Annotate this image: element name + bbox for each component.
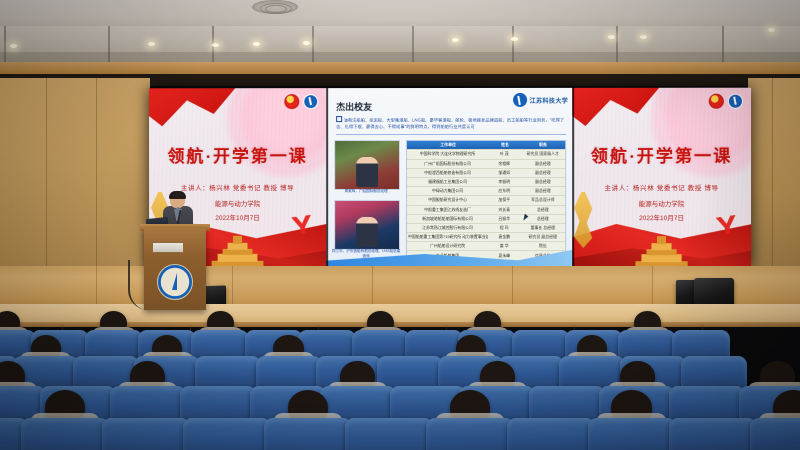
ceiling-spotlight	[303, 41, 310, 45]
table-cell: 副总经理	[520, 178, 565, 186]
table-header-cell: 姓名	[489, 141, 521, 149]
auditorium-seat	[345, 418, 433, 450]
table-row: 中船重工集团江苏线友造厂刘长青总经理	[407, 204, 565, 213]
table-cell: 研究员 国家级人才	[520, 150, 565, 158]
table-cell: 军品总设计师	[520, 196, 565, 204]
table-row: 福建福船工业集团公司李振明副总经理	[407, 177, 565, 186]
table-cell: 新加坡驰船船舶国际有限公司	[407, 215, 488, 223]
screenshot-root: 领航·开学第一课 主讲人：杨兴林 党委书记 教授 博导 能源与动力学院 2022…	[0, 0, 800, 450]
panel-divider	[572, 88, 574, 268]
alumni-photo-2	[334, 200, 400, 250]
table-cell: 余相辉	[488, 160, 520, 168]
ceiling-spotlight	[148, 42, 155, 46]
university-badge-icon	[513, 93, 527, 107]
podium	[144, 228, 206, 310]
table-cell: 中国船舶重工集团第715研究所 动力装置事业部	[407, 233, 488, 241]
table-cell: 中国科学院 大连化学物理研究所	[407, 150, 488, 158]
table-cell: 夏永峰	[488, 251, 520, 259]
table-cell: 邹通如	[488, 169, 520, 177]
table-header-cell: 工作单位	[407, 141, 489, 149]
table-row: 中国科学院 大连化学物理研究所叶 茂研究员 国家级人才	[407, 149, 565, 158]
university-badge-icon	[303, 94, 318, 109]
table-cell: 李振明	[488, 178, 520, 186]
auditorium-seat	[588, 418, 676, 450]
left-slide-logos	[284, 94, 318, 109]
table-cell: 总经理	[520, 206, 565, 214]
podium-nameplate	[152, 242, 184, 253]
ceiling-spotlight	[452, 38, 459, 42]
table-cell: 研究员 副总经理	[520, 233, 565, 241]
table-cell: 中船澄西船舶修造有限公司	[407, 169, 488, 177]
slide-heading: 杰出校友	[336, 100, 372, 113]
table-header-cell: 职务	[521, 141, 565, 149]
auditorium-seat	[264, 418, 352, 450]
table-row: 中国舰船研究设计中心加保平军品总设计师	[407, 195, 565, 204]
right-screen-panel: 领航·开学第一课 主讲人：杨兴林 党委书记 教授 博导 能源与动力学院 2022…	[572, 88, 751, 269]
party-emblem-icon	[284, 94, 299, 109]
tiananmen-icon	[212, 236, 264, 268]
auditorium-seat	[183, 418, 271, 450]
table-cell: 中绿动力集团公司	[407, 187, 488, 195]
table-cell: 副总经理	[520, 187, 565, 195]
ceiling-spotlight	[608, 35, 615, 39]
right-slide-date: 2022年10月7日	[639, 212, 684, 222]
table-cell: 刘长青	[488, 206, 520, 214]
right-slide-title: 领航·开学第一课	[591, 142, 732, 167]
right-slide-presenter: 主讲人：杨兴林 党委书记 教授 博导	[604, 182, 718, 192]
alumni-photo-1-caption: 周某辉，广船国际副总经理	[330, 189, 402, 194]
ceiling-spotlight	[640, 35, 647, 39]
slide-header-brand: 江苏科技大学	[513, 93, 569, 107]
table-cell: 广州广船国际股份有限公司	[407, 160, 488, 168]
auditorium-seat	[426, 418, 514, 450]
alumni-table-header: 工作单位姓名职务	[407, 141, 565, 149]
table-cell: 董事长 总经理	[520, 224, 565, 232]
table-cell: 姜 华	[488, 242, 520, 250]
presentation-slide: 江苏科技大学 杰出校友 油电注船舶、挖泥船、大型集滚船、LNG船、豪华客滚船、邮…	[326, 88, 572, 268]
table-cell: 加保平	[488, 196, 520, 204]
university-name: 江苏科技大学	[530, 95, 568, 104]
table-cell: 袁金鹏	[488, 233, 520, 241]
ceiling-spotlight	[768, 28, 775, 32]
alumni-photo-1	[334, 140, 400, 190]
auditorium-seat	[750, 418, 800, 450]
table-cell: 福建福船工业集团公司	[407, 178, 488, 186]
auditorium-seat	[669, 418, 757, 450]
left-slide-college: 能源与动力学院	[215, 198, 260, 208]
left-wall-panel	[0, 78, 150, 288]
auditorium-seat	[102, 418, 190, 450]
table-row: 中船澄西船舶修造有限公司邹通如副总经理	[407, 168, 565, 177]
ceiling-spotlight	[212, 43, 219, 47]
table-row: 新加坡驰船船舶国际有限公司吕振华总经理	[407, 214, 565, 223]
slide-bullet-text: 油电注船舶、挖泥船、大型集滚船、LNG船、豪华客滚船、邮轮、极地座发品建造船、员…	[336, 116, 566, 131]
table-cell: 副总经理	[520, 169, 565, 177]
alumni-table: 工作单位姓名职务中国科学院 大连化学物理研究所叶 茂研究员 国家级人才广州广船国…	[406, 140, 566, 261]
auditorium-seat	[21, 418, 109, 450]
table-row: 江苏常熟江城控股行有限公司程 玛董事长 总经理	[407, 223, 565, 232]
center-screen-panel: 江苏科技大学 杰出校友 油电注船舶、挖泥船、大型集滚船、LNG船、豪华客滚船、邮…	[326, 88, 572, 268]
panel-divider	[326, 88, 328, 268]
auditorium-seat	[507, 418, 595, 450]
ceiling-spotlight	[10, 44, 17, 48]
table-cell: 吕振华	[488, 215, 520, 223]
slide-divider	[336, 134, 566, 135]
right-wall-panel	[748, 78, 800, 288]
ceiling-vent-icon	[252, 0, 298, 14]
tiananmen-icon	[635, 236, 687, 268]
table-cell: 程 玛	[488, 224, 520, 232]
right-slide-college: 能源与动力学院	[639, 198, 685, 208]
party-emblem-icon	[709, 94, 724, 109]
university-sailboat-emblem-icon	[157, 264, 193, 300]
ceiling-spotlight	[253, 42, 260, 46]
table-cell: 中船重工集团江苏线友造厂	[407, 205, 488, 213]
table-cell: 副总经理	[520, 160, 565, 168]
table-row: 中绿动力集团公司应东明副总经理	[407, 186, 565, 195]
table-row: 广州广船国际股份有限公司余相辉副总经理	[407, 159, 565, 168]
table-cell: 院长	[520, 242, 565, 250]
table-cell: 广州船舶设计研究院	[407, 242, 488, 250]
table-cell: 应东明	[488, 187, 520, 195]
right-slide-logos	[709, 94, 743, 109]
table-row: 中国船舶重工集团第715研究所 动力装置事业部袁金鹏研究员 副总经理	[407, 232, 565, 241]
left-slide-date: 2022年10月7日	[215, 212, 260, 222]
bullet-square-icon	[336, 116, 341, 121]
table-cell: 中国舰船研究设计中心	[407, 196, 488, 204]
ceiling-spotlight	[511, 37, 518, 41]
table-cell: 江苏常熟江城控股行有限公司	[407, 224, 488, 232]
left-slide-presenter: 主讲人：杨兴林 党委书记 教授 博导	[181, 182, 294, 192]
table-row: 广州船舶设计研究院姜 华院长	[407, 241, 565, 250]
table-cell: 叶 茂	[488, 150, 520, 158]
led-display-wall: 领航·开学第一课 主讲人：杨兴林 党委书记 教授 博导 能源与动力学院 2022…	[149, 88, 751, 269]
left-slide-title: 领航·开学第一课	[168, 142, 308, 167]
university-badge-icon	[728, 94, 743, 109]
